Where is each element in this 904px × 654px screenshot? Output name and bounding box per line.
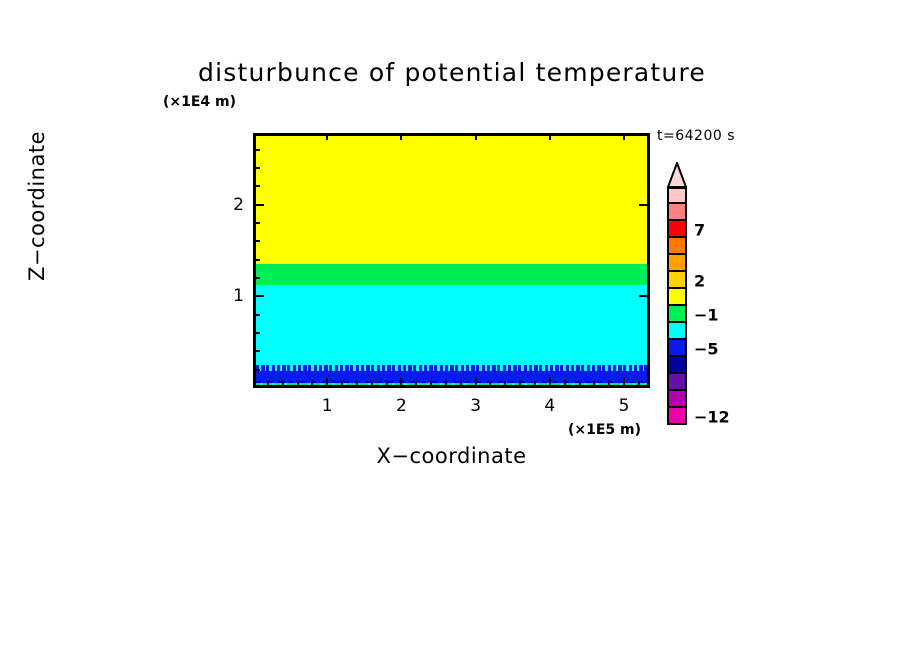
x-tick-major — [326, 378, 328, 388]
field-region-surface-green — [256, 383, 647, 387]
colorbar-swatch — [667, 221, 687, 238]
x-tick-minor — [564, 381, 566, 388]
y-tick-minor — [253, 167, 260, 169]
y-tick-minor — [253, 185, 260, 187]
x-tick-minor — [386, 381, 388, 388]
x-tick-label: 5 — [619, 396, 630, 416]
y-tick-right — [639, 204, 650, 206]
y-axis-title: Z−coordinate — [25, 106, 49, 306]
y-tick-minor — [253, 332, 260, 334]
colorbar-arrow-icon — [667, 162, 687, 188]
x-tick-top — [623, 133, 625, 140]
colorbar-tick-label: −5 — [694, 339, 719, 358]
colorbar-swatch — [667, 340, 687, 357]
x-tick-minor — [341, 381, 343, 388]
colorbar-swatch — [667, 357, 687, 374]
colorbar-swatch — [667, 187, 687, 204]
field-region-upper — [256, 136, 647, 264]
y-axis-unit-label: (×1E4 m) — [163, 94, 236, 110]
page-title: disturbunce of potential temperature — [0, 58, 904, 87]
colorbar-swatch — [667, 238, 687, 255]
colorbar-swatch — [667, 374, 687, 391]
field-region-mixed — [256, 285, 647, 373]
x-tick-minor — [460, 381, 462, 388]
x-tick-major — [623, 378, 625, 388]
x-tick-minor — [579, 381, 581, 388]
colorbar-swatch — [667, 391, 687, 408]
colorbar-tick-label: 2 — [694, 271, 705, 290]
x-tick-label: 1 — [322, 396, 333, 416]
x-tick-minor — [430, 381, 432, 388]
x-tick-major — [475, 378, 477, 388]
y-tick-right — [639, 295, 650, 297]
x-tick-minor — [356, 381, 358, 388]
x-tick-minor — [311, 381, 313, 388]
x-tick-minor — [519, 381, 521, 388]
x-tick-minor — [297, 381, 299, 388]
x-tick-minor — [371, 381, 373, 388]
colorbar — [667, 187, 687, 425]
y-tick-label: 2 — [230, 195, 244, 215]
x-tick-minor — [608, 381, 610, 388]
x-tick-minor — [504, 381, 506, 388]
x-tick-minor — [489, 381, 491, 388]
y-tick-minor — [253, 314, 260, 316]
x-tick-top — [475, 133, 477, 140]
colorbar-swatch — [667, 323, 687, 340]
colorbar-tick-label: −12 — [694, 407, 730, 426]
colorbar-tick-label: 7 — [694, 220, 705, 239]
x-tick-top — [326, 133, 328, 140]
x-tick-minor — [534, 381, 536, 388]
y-tick-minor — [253, 222, 260, 224]
field-region-surface — [256, 386, 647, 388]
x-axis-unit-label: (×1E5 m) — [568, 422, 641, 438]
y-tick-minor — [253, 240, 260, 242]
x-tick-top — [549, 133, 551, 140]
x-tick-label: 2 — [396, 396, 407, 416]
x-tick-minor — [267, 381, 269, 388]
x-tick-label: 3 — [470, 396, 481, 416]
field-region-transition — [256, 264, 647, 285]
colorbar-swatch — [667, 408, 687, 425]
y-tick-major — [253, 204, 264, 206]
colorbar-swatch — [667, 289, 687, 306]
y-tick-minor — [253, 350, 260, 352]
x-tick-major — [549, 378, 551, 388]
y-tick-major — [253, 295, 264, 297]
time-annotation: t=64200 s — [657, 128, 735, 144]
y-tick-minor — [253, 369, 260, 371]
x-tick-minor — [415, 381, 417, 388]
x-tick-minor — [593, 381, 595, 388]
colorbar-swatch — [667, 306, 687, 323]
x-tick-major — [400, 378, 402, 388]
contour-plot-area — [253, 133, 650, 388]
x-axis-title: X−coordinate — [253, 444, 650, 468]
y-tick-minor — [253, 259, 260, 261]
x-tick-top — [400, 133, 402, 140]
x-tick-minor — [638, 381, 640, 388]
colorbar-swatch — [667, 255, 687, 272]
y-tick-minor — [253, 149, 260, 151]
colorbar-swatch — [667, 272, 687, 289]
x-tick-minor — [445, 381, 447, 388]
y-tick-label: 1 — [230, 286, 244, 306]
colorbar-tick-label: −1 — [694, 305, 719, 324]
colorbar-swatch — [667, 204, 687, 221]
y-tick-minor — [253, 277, 260, 279]
x-tick-minor — [282, 381, 284, 388]
x-tick-label: 4 — [544, 396, 555, 416]
